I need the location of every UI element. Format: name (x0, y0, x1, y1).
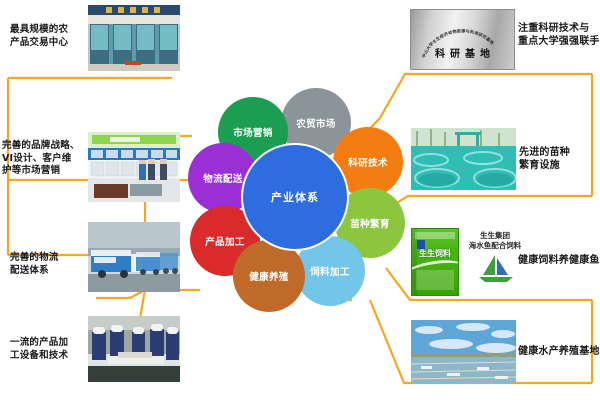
left-caption-2: 完善的品牌战略、 VI设计、客户维 护等市场营销 (2, 140, 82, 178)
feed-brand-logo: 生生集团 海水鱼配合饲料 (464, 231, 526, 287)
left-photo-3 (88, 222, 180, 292)
left-caption-4: 一流的产品加 工设备和技术 (10, 337, 86, 362)
retail-store-photo (88, 132, 180, 202)
petal-label-marketing: 市场营销 (233, 125, 273, 139)
left-photo-2 (88, 132, 180, 202)
right-caption-4: 健康水产养殖基地 (518, 345, 600, 358)
feed-bag: 生生饲料 (411, 228, 459, 296)
petal-label-feed-processing: 饲料加工 (310, 264, 350, 278)
plaque-arc-text: 中山大学水生经济动物资源与利用研究基地 (411, 10, 514, 69)
right-photo-4 (411, 320, 516, 383)
petal-label-healthy-farming: 健康养殖 (249, 269, 289, 283)
center-circle[interactable]: 产业体系 (241, 143, 349, 251)
industry-system-cluster: 农贸市场 市场营销 科研技术 物流配送 苗种繁育 产品加工 饲料加工 健康养殖 … (185, 88, 415, 313)
left-photo-4 (88, 316, 180, 382)
feed-bag-text: 生生饲料 (412, 249, 458, 258)
feed-bag-bottom (416, 270, 454, 290)
processing-line-photo (88, 316, 180, 382)
aquaculture-ponds-photo (411, 320, 516, 383)
delivery-trucks-photo (88, 222, 180, 292)
right-connector-2 (385, 196, 592, 210)
petal-label-farmers-market: 农贸市场 (296, 116, 336, 130)
left-caption-3: 完善的物流 配送体系 (10, 252, 82, 277)
feed-logo-text: 生生集团 海水鱼配合饲料 (464, 231, 526, 250)
petal-label-seed-breeding: 苗种繁育 (350, 216, 390, 230)
breeding-tanks-photo (411, 128, 516, 190)
right-caption-1: 注重科研技术与 重点大学强强联手 (518, 22, 600, 48)
research-base-plaque: 中山大学水生经济动物资源与利用研究基地 科研基地 (410, 9, 515, 70)
feed-bag-top (415, 232, 455, 239)
left-photo-1 (88, 5, 180, 71)
petal-label-research-tech: 科研技术 (348, 155, 388, 169)
center-label: 产业体系 (271, 189, 319, 205)
diagram-canvas: 最具规模的农 产品交易中心 完善的品牌战略、 VI设计、客户维 护等市场营销 (0, 0, 600, 404)
right-photo-2 (411, 128, 516, 190)
right-caption-2: 先进的苗种 繁育设施 (519, 146, 599, 172)
petal-label-product-processing: 产品加工 (205, 234, 245, 248)
feed-bag-badge (417, 240, 425, 249)
sailboat-icon (476, 253, 516, 283)
plaque-main-text: 科研基地 (411, 45, 514, 60)
trading-center-photo (88, 5, 180, 71)
petal-label-logistics: 物流配送 (203, 171, 243, 185)
left-caption-1: 最具规模的农 产品交易中心 (10, 24, 86, 49)
right-caption-3: 健康饲料养健康鱼 (518, 254, 600, 267)
